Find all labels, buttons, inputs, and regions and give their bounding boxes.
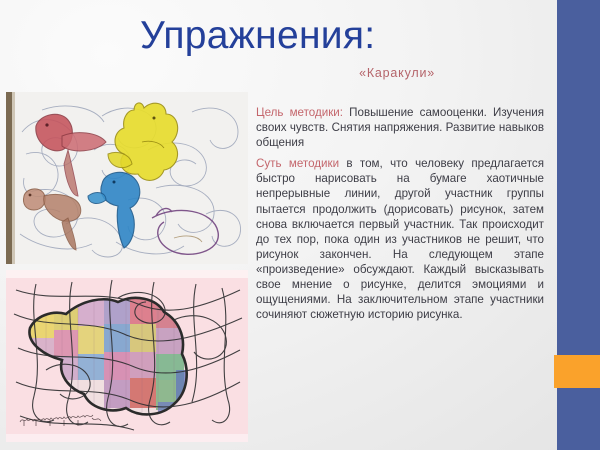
- slide-canvas: Упражнения: «Каракули» Цель методики: По…: [0, 0, 600, 450]
- paragraph-goal-lead: Цель методики:: [256, 106, 343, 119]
- body-text-column: Цель методики: Повышение самооценки. Изу…: [256, 105, 544, 322]
- paragraph-goal: Цель методики: Повышение самооценки. Изу…: [256, 105, 544, 150]
- paragraph-method-text: в том, что человеку предлагается быстро …: [256, 157, 544, 321]
- doodle-patchwork-animal-artwork: [6, 270, 248, 442]
- image-doodle-patchwork-animal: [6, 270, 248, 442]
- doodle-colored-figures-artwork: [6, 92, 248, 264]
- right-accent-block-orange: [554, 355, 600, 388]
- image-doodle-colored-figures: [6, 92, 248, 264]
- page-title: Упражнения:: [140, 12, 440, 60]
- page-subtitle: «Каракули»: [240, 66, 435, 80]
- paragraph-method: Суть методики в том, что человеку предла…: [256, 156, 544, 322]
- paragraph-method-lead: Суть методики: [256, 157, 339, 170]
